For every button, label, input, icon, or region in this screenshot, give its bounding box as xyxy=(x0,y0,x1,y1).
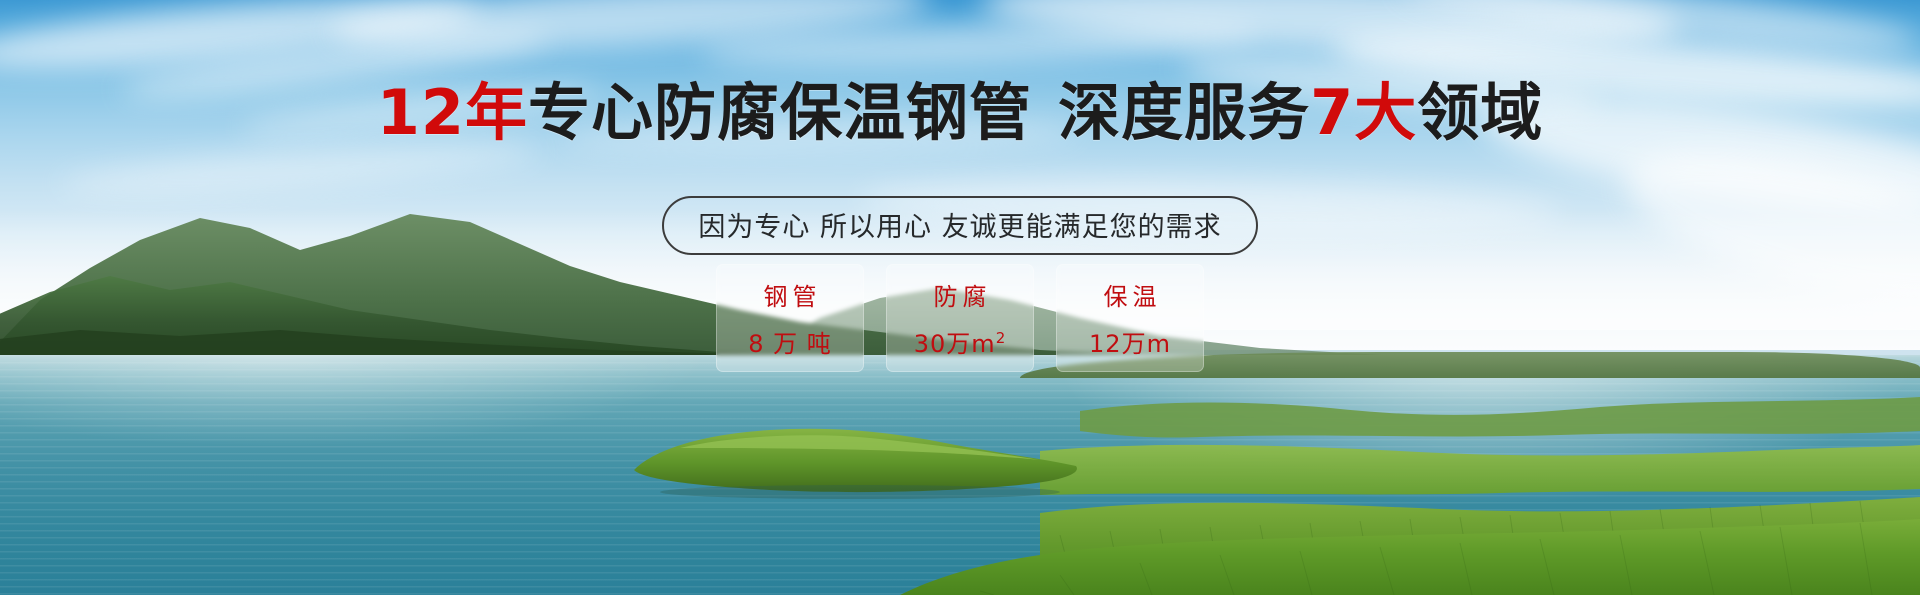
stat-card-label: 保温 xyxy=(1099,277,1162,312)
stat-card-unit-sup: 2 xyxy=(996,329,1007,347)
subtitle-pill: 因为专心 所以用心 友诚更能满足您的需求 xyxy=(662,196,1257,255)
headline-years: 12年 xyxy=(377,76,528,149)
hero-banner: 12年专心防腐保温钢管深度服务7大领域 因为专心 所以用心 友诚更能满足您的需求… xyxy=(0,0,1920,595)
foreground-grass xyxy=(0,505,1920,595)
headline-fields-count: 7大 xyxy=(1310,76,1417,149)
stat-card-label: 钢管 xyxy=(759,277,822,312)
stat-card-value-text: 30万m xyxy=(914,330,996,358)
stat-card-value-text: 12万m xyxy=(1089,330,1171,358)
headline-fields: 领域 xyxy=(1417,76,1543,149)
stat-card-steel-pipe[interactable]: 钢管 8 万 吨 xyxy=(716,264,864,372)
stat-card-value: 12万m xyxy=(1089,324,1171,359)
page-title: 12年专心防腐保温钢管深度服务7大领域 xyxy=(0,82,1920,144)
subtitle-container: 因为专心 所以用心 友诚更能满足您的需求 xyxy=(0,196,1920,255)
headline-main: 专心防腐保温钢管 xyxy=(528,76,1032,149)
headline-service: 深度服务 xyxy=(1058,76,1310,149)
stat-card-anticorrosion[interactable]: 防腐 30万m2 xyxy=(886,264,1034,372)
stat-cards: 钢管 8 万 吨 防腐 30万m2 保温 12万m xyxy=(0,264,1920,372)
stat-card-value: 30万m2 xyxy=(914,324,1006,359)
stat-card-label: 防腐 xyxy=(929,277,992,312)
stat-card-insulation[interactable]: 保温 12万m xyxy=(1056,264,1204,372)
grass-island xyxy=(620,408,1090,500)
stat-card-value: 8 万 吨 xyxy=(748,324,832,359)
stat-card-value-text: 8 万 吨 xyxy=(748,330,832,358)
